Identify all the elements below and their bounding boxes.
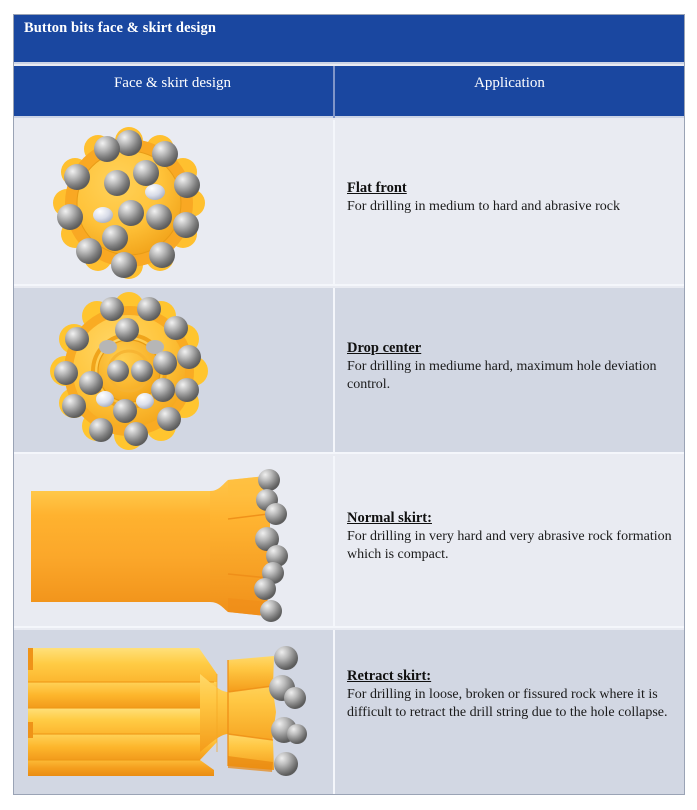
table-row: Normal skirt: For drilling in very hard … bbox=[14, 456, 684, 628]
retract-skirt-bit-icon bbox=[14, 630, 331, 794]
page-root: Button bits face & skirt design Face & s… bbox=[0, 0, 697, 810]
cell-application-text: Flat front For drilling in medium to har… bbox=[333, 120, 684, 284]
application-description: For drilling in very hard and very abras… bbox=[347, 528, 674, 564]
column-header-application: Application bbox=[333, 66, 684, 118]
application-heading: Normal skirt: bbox=[347, 510, 674, 527]
cell-application-text: Normal skirt: For drilling in very hard … bbox=[333, 456, 684, 626]
application-description: For drilling in medium to hard and abras… bbox=[347, 198, 674, 216]
cell-design-image bbox=[14, 120, 331, 284]
table-row: Retract skirt: For drilling in loose, br… bbox=[14, 630, 684, 794]
cell-application-text: Drop center For drilling in mediume hard… bbox=[333, 288, 684, 452]
application-heading: Retract skirt: bbox=[347, 668, 674, 685]
normal-skirt-bit-icon bbox=[14, 456, 331, 626]
table-row: Drop center For drilling in mediume hard… bbox=[14, 288, 684, 454]
table-header-row: Face & skirt design Application bbox=[14, 66, 684, 118]
table-row: Flat front For drilling in medium to har… bbox=[14, 120, 684, 286]
cell-design-image bbox=[14, 288, 331, 452]
application-description: For drilling in loose, broken or fissure… bbox=[347, 686, 674, 722]
application-description: For drilling in mediume hard, maximum ho… bbox=[347, 358, 674, 394]
column-header-face-skirt-design: Face & skirt design bbox=[14, 66, 331, 118]
table-title-bar: Button bits face & skirt design bbox=[14, 15, 684, 64]
cell-design-image bbox=[14, 630, 331, 794]
button-bits-table: Button bits face & skirt design Face & s… bbox=[13, 14, 685, 795]
application-heading: Drop center bbox=[347, 340, 674, 357]
flat-front-bit-icon bbox=[14, 120, 331, 284]
application-heading: Flat front bbox=[347, 180, 674, 197]
cell-design-image bbox=[14, 456, 331, 626]
cell-application-text: Retract skirt: For drilling in loose, br… bbox=[333, 630, 684, 794]
drop-center-bit-icon bbox=[14, 288, 331, 452]
table-title: Button bits face & skirt design bbox=[24, 20, 216, 37]
